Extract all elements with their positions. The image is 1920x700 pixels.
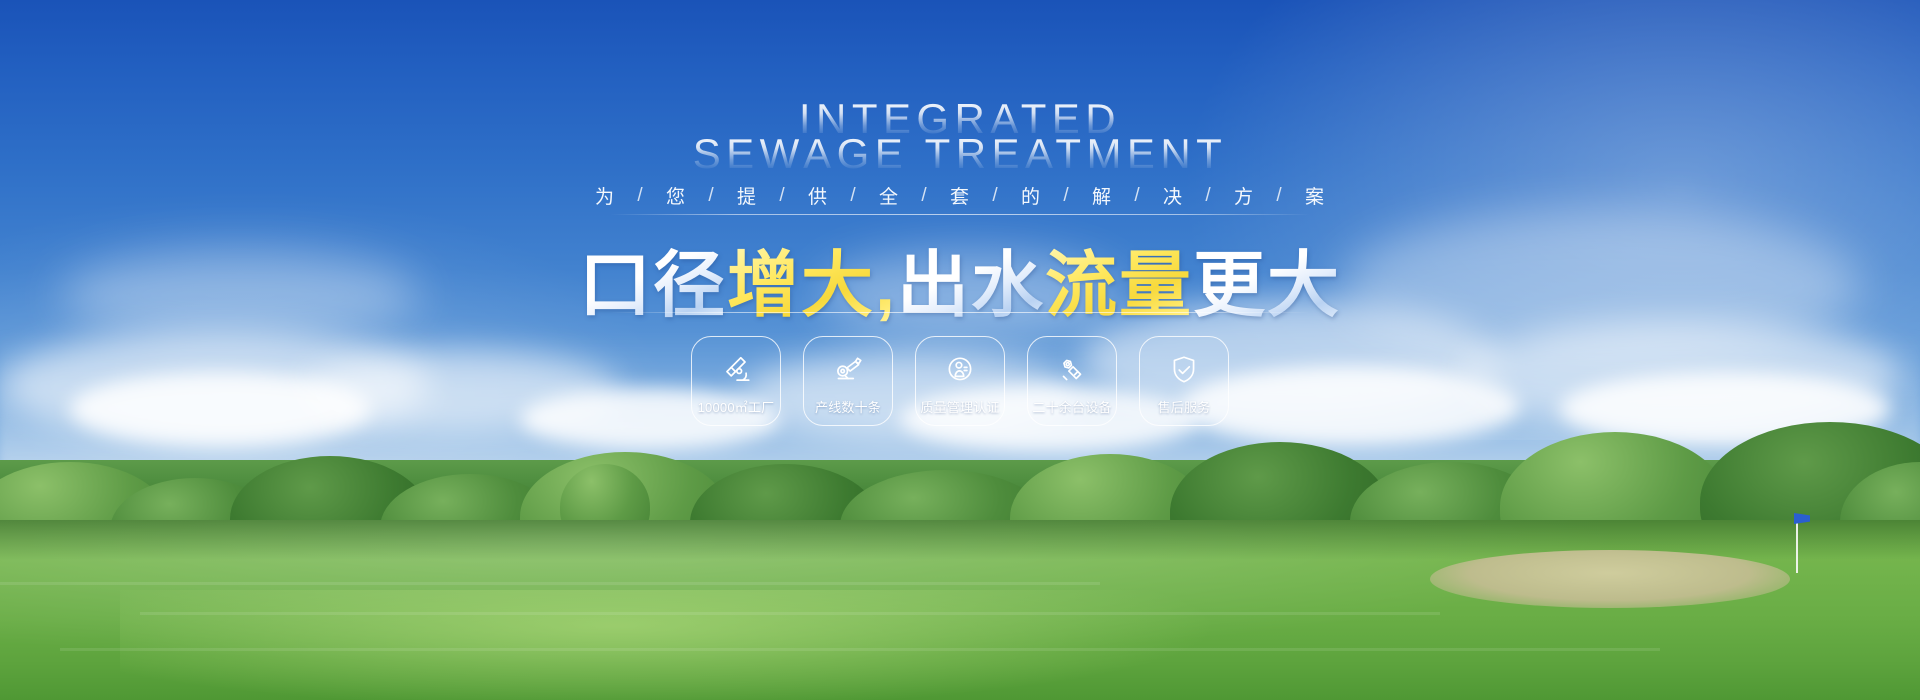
english-heading-line-2: SEWAGE TREATMENT [0,135,1920,174]
headline-segment-1: 增大, [727,246,897,326]
tagline-separator: / [909,185,941,207]
tagline-char: 方 [1225,182,1264,209]
certified-person-icon [943,353,977,387]
tagline-char: 供 [799,182,838,209]
headline-segment-2: 出水 [897,246,1045,326]
hero-banner: INTEGRATED SEWAGE TREATMENT 为/您/提/供/全/套/… [0,0,1920,700]
divider-top [610,214,1310,215]
tagline-char: 套 [941,182,980,209]
english-heading-line-1: INTEGRATED [0,100,1920,139]
feature-badge-label: 10000㎡工厂 [698,397,775,416]
headline-segment-0: 口径 [579,246,727,326]
english-headings: INTEGRATED SEWAGE TREATMENT [0,100,1920,173]
feature-badge-1[interactable]: 产线数十条 [803,336,893,426]
wrench-tool-icon [1055,353,1089,387]
shield-check-icon [1167,353,1201,387]
tagline-char: 的 [1012,182,1051,209]
feature-badge-label: 售后服务 [1158,397,1211,416]
feature-badge-label: 产线数十条 [815,397,881,416]
headline-segment-3: 流量 [1045,246,1193,326]
tagline-char: 为 [586,182,625,209]
feature-badge-4[interactable]: 售后服务 [1139,336,1229,426]
feature-badge-3[interactable]: 二十余台设备 [1027,336,1117,426]
feature-badge-label: 质量管理认证 [920,397,999,416]
tagline-char: 决 [1154,182,1193,209]
tagline-separator: / [838,185,870,207]
tagline-separator: / [980,185,1012,207]
slash-tagline: 为/您/提/供/全/套/的/解/决/方/案 [0,182,1920,209]
feature-badges: 10000㎡工厂产线数十条质量管理认证二十余台设备售后服务 [0,336,1920,426]
headline-segment-4: 更大 [1193,246,1341,326]
feature-badge-label: 二十余台设备 [1032,397,1111,416]
tagline-separator: / [1051,185,1083,207]
banner-content: INTEGRATED SEWAGE TREATMENT 为/您/提/供/全/套/… [0,0,1920,700]
tagline-separator: / [1122,185,1154,207]
divider-bottom [610,312,1310,313]
feature-badge-0[interactable]: 10000㎡工厂 [691,336,781,426]
microscope-icon [719,353,753,387]
tagline-separator: / [696,185,728,207]
tagline-separator: / [625,185,657,207]
tagline-char: 解 [1083,182,1122,209]
production-machine-icon [831,353,865,387]
tagline-char: 提 [728,182,767,209]
feature-badge-2[interactable]: 质量管理认证 [915,336,1005,426]
tagline-char: 案 [1296,182,1335,209]
tagline-separator: / [767,185,799,207]
tagline-char: 您 [657,182,696,209]
tagline-separator: / [1264,185,1296,207]
main-headline: 口径增大,出水流量更大 [0,226,1920,331]
tagline-separator: / [1193,185,1225,207]
tagline-char: 全 [870,182,909,209]
